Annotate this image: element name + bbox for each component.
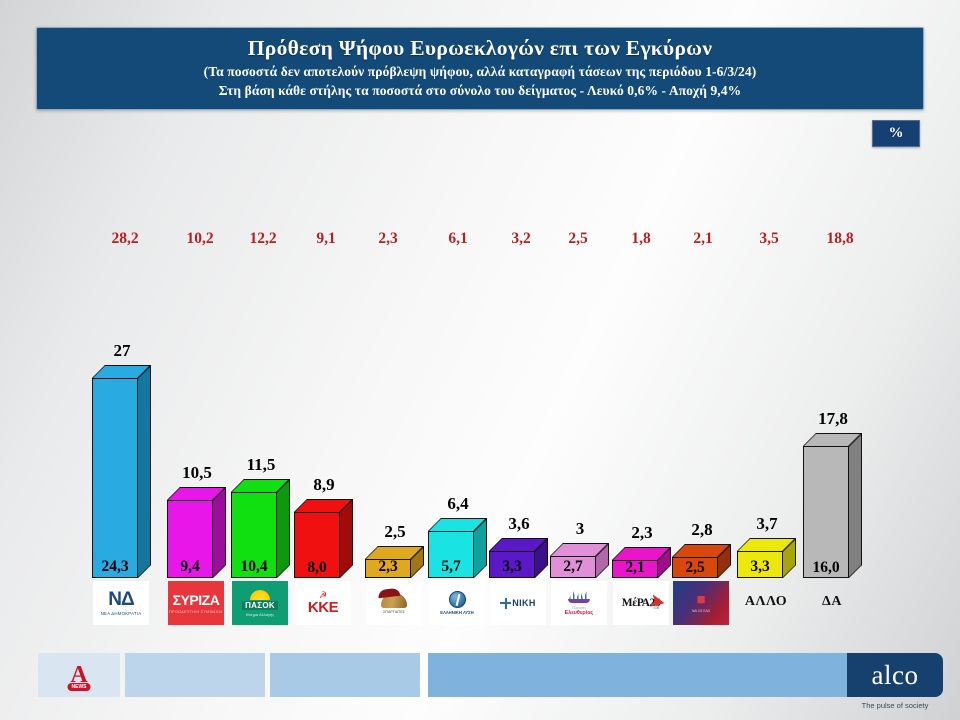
spartiates-subtext: ΣΠΑΡΤΙΑΤΕΣ [383,610,405,614]
bar-top-value: 2,5 [360,522,430,542]
pasok-sun-icon [250,590,270,600]
mera25-subtext: .GR [653,606,659,610]
pasok-wordmark: ΠΑΣΟΚ [242,601,278,610]
bar-inner-value: 16,0 [804,560,848,576]
prev-value-κουρσα: 2,1 [673,230,733,248]
prev-value-δα: 18,8 [810,230,870,248]
bar-νικη: 3,3 [489,538,535,578]
kke-wordmark: ΚΚΕ [308,600,338,615]
footer-bar: A NEWS alco The pulse of society [0,645,960,720]
bar-κουρσα: 2,5 [672,544,718,578]
bar-δα: 16,0 [803,433,849,578]
bar-ελληνικη-λυση: 5,7 [428,518,474,578]
bar-top-value: 10,5 [162,463,232,483]
bar-top-value: 3 [545,519,615,539]
bar-front-face: 3,3 [737,551,783,578]
prev-value-νεα-δημοκρατια: 28,2 [95,230,155,248]
prev-value-νικη: 3,2 [491,230,551,248]
bar-front-face: 16,0 [803,446,849,578]
bar-inner-value: 2,7 [551,559,595,575]
prev-value-πασοκ: 12,2 [233,230,293,248]
prev-value-κκε: 9,1 [296,230,356,248]
party-logo-kke: ☭ΚΚΕ [295,581,351,625]
prev-value-αλλο: 3,5 [739,230,799,248]
prev-value-μέρα25: 1,8 [611,230,671,248]
bar-side-face [849,433,862,578]
bar-front-face: 10,4 [231,492,277,578]
bar-inner-value: 2,1 [613,560,657,576]
alpha-news-logo: A NEWS [38,653,120,697]
alco-tagline: The pulse of society [847,701,943,710]
bar-inner-value: 3,3 [738,559,782,575]
footer-block-2 [270,653,420,697]
axis-label-da: ΔΑ [787,594,877,610]
bar-front-face: 9,4 [167,500,213,578]
bar-front-face: 8,0 [294,512,340,578]
bar-κκε: 8,0 [294,499,340,578]
bar-front-face: 24,3 [92,378,138,578]
footer-block-1 [125,653,265,697]
party-logo-pasok: ΠΑΣΟΚΚίνημα Αλλαγής [232,581,288,625]
bar-top-value: 11,5 [226,455,296,475]
bar-inner-value: 10,4 [232,559,276,575]
bar-front-face: 2,5 [672,557,718,578]
cross-icon [500,598,511,609]
footer-block-3 [428,653,878,697]
nd-subtext: ΝΕΑ ΔΗΜΟΚΡΑΤΙΑ [101,611,142,616]
arrow-icon: ➤ [648,590,669,613]
bar-inner-value: 9,4 [168,559,212,575]
bar-αλλο: 3,3 [737,538,783,578]
bar-inner-value: 2,5 [673,560,717,576]
alpha-news-label: NEWS [68,683,91,691]
bar-top-value: 6,4 [423,494,493,514]
bar-top-value: 2,8 [667,520,737,540]
bar-πασοκ: 10,4 [231,479,277,578]
party-logo-spartiates: ΣΠΑΡΤΙΑΤΕΣ [366,581,422,625]
syriza-subtext: ΠΡΟΟΔΕΥΤΙΚΗ ΣΥΜΜΑΧΙΑ [169,610,223,614]
bar-top-value: 3,7 [732,514,802,534]
poll-chart-slide: Πρόθεση Ψήφου Ευρωεκλογών επι των Εγκύρω… [0,0,960,720]
elliniki-lysi-subtext: ΕΛΛΗΝΙΚΗ ΛΥΣΗ [440,610,473,615]
party-logo-plefsi-eleftherias: ΠλεύσηΕλευθερίας [551,581,607,625]
bar-inner-value: 3,3 [490,559,534,575]
bar-front-face: 5,7 [428,531,474,578]
sailboat-icon [568,590,590,603]
party-logo-mera25: ΜέΡΑ25➤.GR [613,581,669,625]
elliniki-lysi-emblem-icon [449,591,466,608]
niki-wordmark: ΝΙΚΗ [512,598,536,608]
alco-logo: alco [847,653,943,697]
nd-wordmark: ΝΔ [108,590,133,609]
bar-top-value: 8,9 [289,475,359,495]
bar-inner-value: 8,0 [295,560,339,576]
figure-icon: ■ [696,593,705,608]
alco-wordmark: alco [872,662,919,689]
syriza-wordmark: ΣΥΡΙΖΑ [173,593,220,607]
pasok-subtext: Κίνημα Αλλαγής [246,612,274,617]
bar-front-face: 2,7 [550,556,596,578]
bar-μέρα25: 2,1 [612,547,658,578]
party-logo-syriza: ΣΥΡΙΖΑΠΡΟΟΔΕΥΤΙΚΗ ΣΥΜΜΑΧΙΑ [168,581,224,625]
bar-inner-value: 24,3 [93,559,137,575]
bar-inner-value: 2,3 [366,559,410,575]
bar-side-face [213,487,226,578]
party-logo-niki: ΝΙΚΗ [490,581,546,625]
bar-σπαρτιατες: 2,3 [365,546,411,578]
bar-front-face: 3,3 [489,551,535,578]
bar-πλευση-ελευθεριας: 2,7 [550,543,596,578]
bar-νεα-δημοκρατια: 24,3 [92,365,138,578]
prev-value-ελληνικη-λυση: 6,1 [428,230,488,248]
bar-front-face: 2,3 [365,559,411,578]
bar-side-face [138,365,151,578]
spartan-helmet-icon [381,593,407,608]
bar-συριζα: 9,4 [167,487,213,578]
bar-inner-value: 5,7 [429,559,473,575]
bar-top-value: 3,6 [484,514,554,534]
prev-value-συριζα: 10,2 [170,230,230,248]
bar-top-value: 17,8 [798,409,868,429]
party-logo-nea-dimokratia: ΝΔΝΕΑ ΔΗΜΟΚΡΑΤΙΑ [93,581,149,625]
bar-top-value: 27 [87,341,157,361]
bar-front-face: 2,1 [612,560,658,578]
prev-value-σπαρτιατες: 2,3 [358,230,418,248]
plefsi-subtext: Ελευθερίας [565,610,594,616]
chart-plot-area: 28,210,212,29,12,36,13,22,51,82,13,518,8… [0,0,960,640]
bar-side-face [340,499,353,578]
prev-value-πλευση-ελευθεριας: 2,5 [548,230,608,248]
koursa-subtext: ΝΑΙ ΩΣ ΕΔΩ [692,609,710,613]
party-logo-elliniki-lysi: ΕΛΛΗΝΙΚΗ ΛΥΣΗ [429,581,485,625]
